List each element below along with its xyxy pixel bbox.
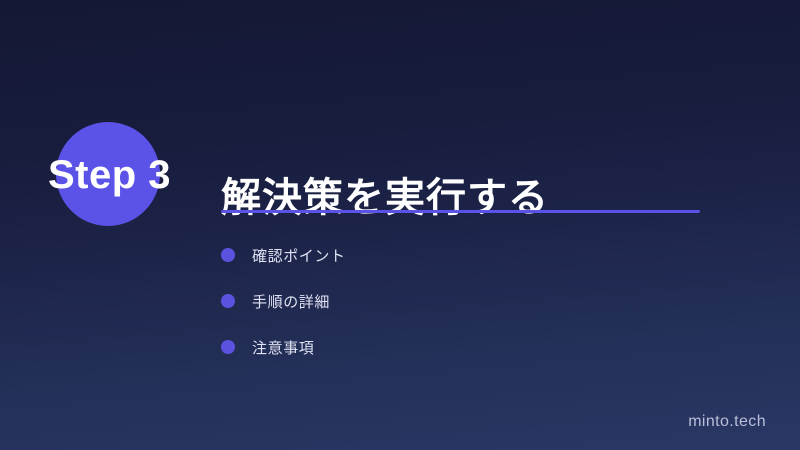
bullet-dot-icon <box>221 340 235 354</box>
slide-canvas: Step 3 解決策を実行する 確認ポイント 手順の詳細 注意事項 minto.… <box>0 0 800 450</box>
footer-brand: minto.tech <box>688 413 766 431</box>
bullet-list: 確認ポイント 手順の詳細 注意事項 <box>221 232 346 370</box>
bullet-dot-icon <box>221 248 235 262</box>
bullet-item-label: 確認ポイント <box>252 245 346 266</box>
list-item: 注意事項 <box>221 324 346 370</box>
slide-title: 解決策を実行する <box>221 173 549 223</box>
step-label: Step 3 <box>48 152 171 198</box>
title-divider <box>221 210 700 213</box>
list-item: 手順の詳細 <box>221 278 346 324</box>
bullet-dot-icon <box>221 294 235 308</box>
bullet-item-label: 注意事項 <box>252 337 314 358</box>
list-item: 確認ポイント <box>221 232 346 278</box>
bullet-item-label: 手順の詳細 <box>252 291 330 312</box>
